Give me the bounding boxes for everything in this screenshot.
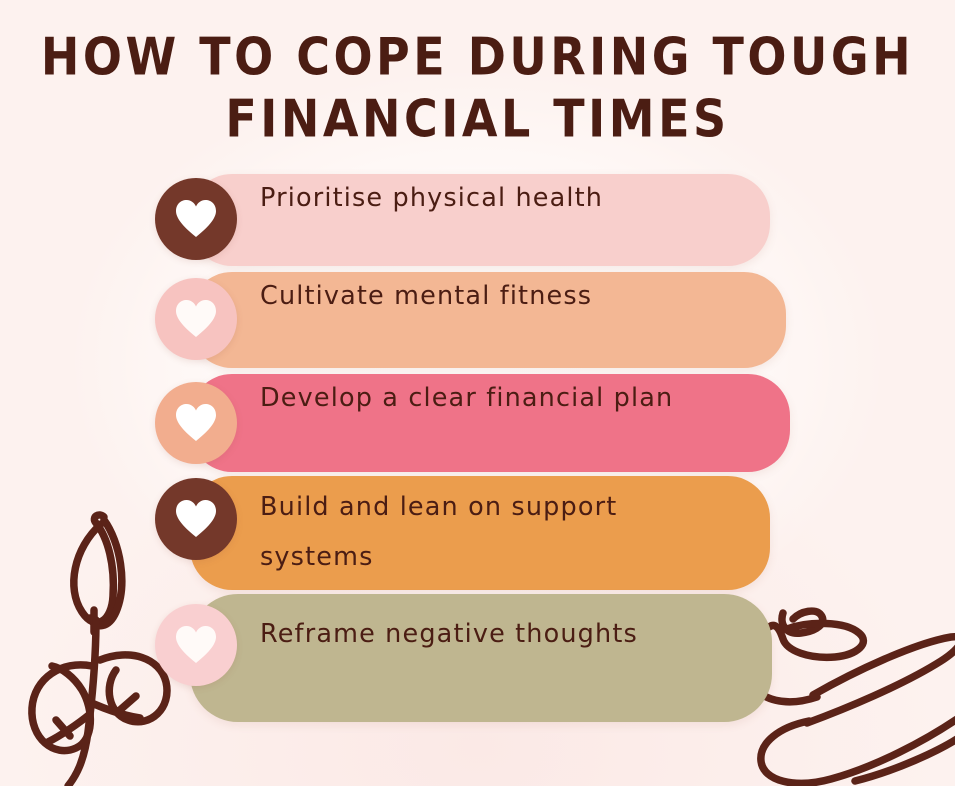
tip-label: Build and lean on support systems: [260, 482, 736, 582]
heart-icon: [175, 500, 217, 538]
heart-icon: [175, 404, 217, 442]
heart-badge: [155, 604, 237, 686]
tip-label: Reframe negative thoughts: [260, 610, 738, 658]
tip-bar: Develop a clear financial plan: [190, 374, 790, 472]
tip-bar: Cultivate mental fitness: [190, 272, 786, 368]
tip-bar: Reframe negative thoughts: [190, 594, 772, 722]
title-line-1: How to cope during tough: [0, 22, 955, 91]
heart-badge: [155, 278, 237, 360]
tip-label: Develop a clear financial plan: [260, 374, 756, 422]
heart-icon: [175, 300, 217, 338]
heart-badge: [155, 478, 237, 560]
tip-bar: Build and lean on support systems: [190, 476, 770, 590]
tips-list: Prioritise physical health Cultivate men…: [0, 166, 955, 726]
heart-badge: [155, 382, 237, 464]
poster-canvas: How to cope during tough financial times…: [0, 0, 955, 786]
heart-badge: [155, 178, 237, 260]
heart-icon: [175, 626, 217, 664]
tip-bar: Prioritise physical health: [190, 174, 770, 266]
title-line-2: financial times: [0, 84, 955, 153]
page-title: How to cope during tough financial times: [0, 22, 955, 146]
heart-icon: [175, 200, 217, 238]
tip-label: Cultivate mental fitness: [260, 272, 752, 320]
tip-label: Prioritise physical health: [260, 174, 736, 222]
